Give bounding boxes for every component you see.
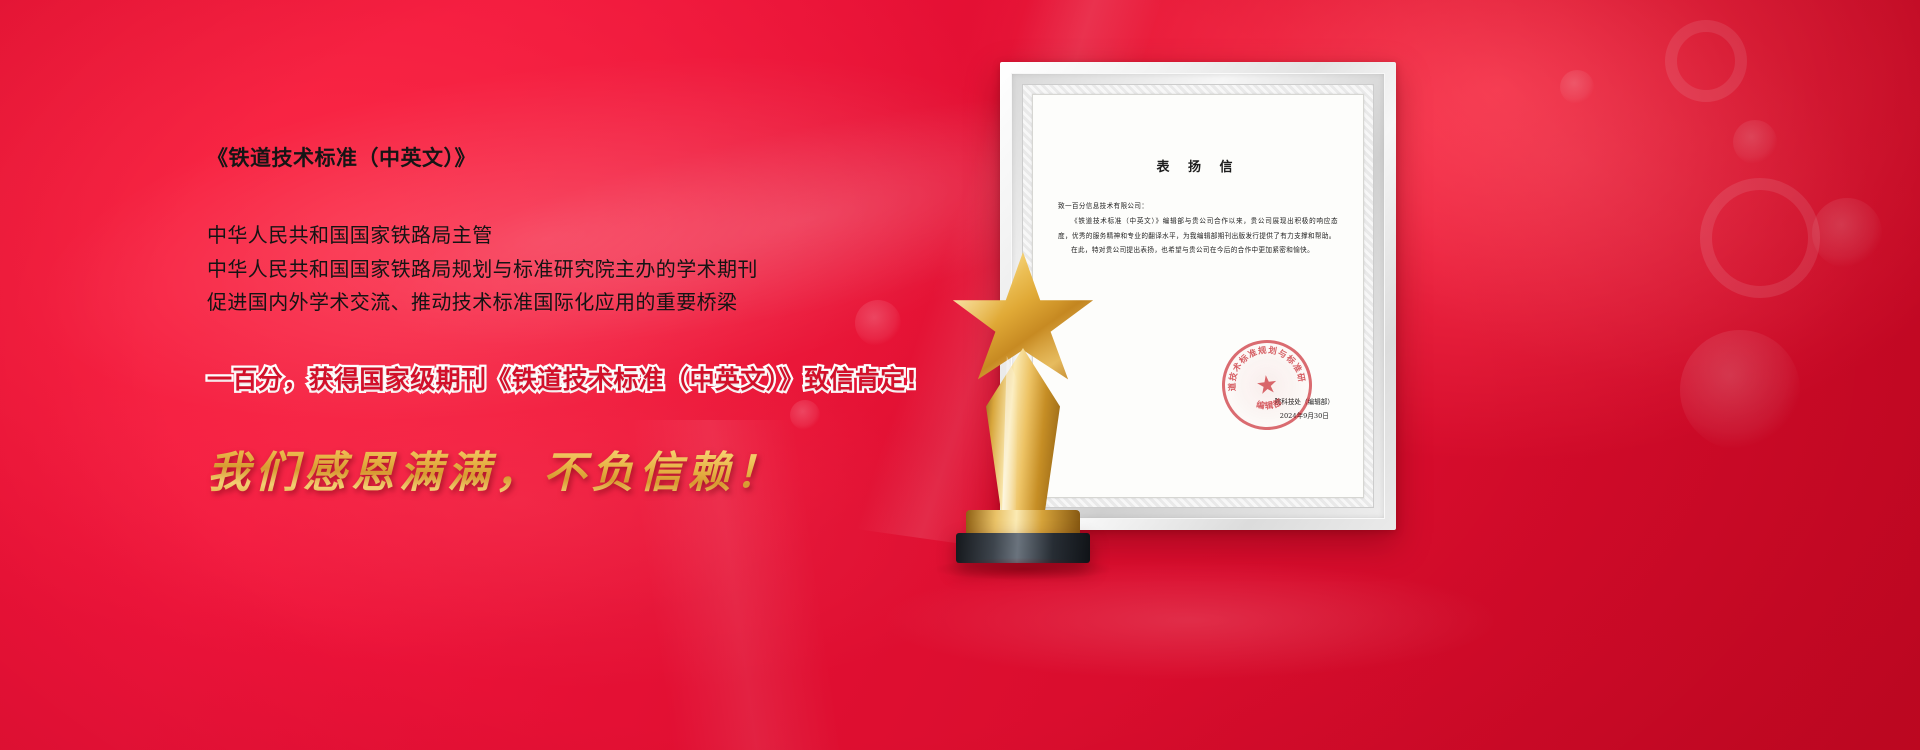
bokeh-circle — [1560, 70, 1594, 104]
bokeh-circle — [1680, 330, 1800, 450]
bokeh-circle — [1812, 198, 1882, 268]
description-line: 中华人民共和国国家铁路局规划与标准研究院主办的学术期刊 — [207, 253, 967, 287]
description-line: 中华人民共和国国家铁路局主管 — [207, 219, 967, 253]
letter-title: 表 扬 信 — [1058, 156, 1338, 175]
headline: 一百分，获得国家级期刊《铁道技术标准（中英文）》致信肯定! — [207, 360, 967, 396]
bokeh-circle — [1700, 178, 1820, 298]
journal-title: 《铁道技术标准（中英文）》 — [207, 142, 967, 172]
svg-text:编辑部: 编辑部 — [1254, 396, 1285, 413]
seal-bottom-text: 编辑部 — [1220, 338, 1314, 432]
trophy-column — [986, 348, 1060, 520]
letter-body: 致一百分信息技术有限公司： 《铁道技术标准（中英文）》编辑部与贵公司合作以来，贵… — [1058, 199, 1338, 258]
official-seal-icon: 铁道技术标准规划与标准研究 编辑部 — [1217, 335, 1317, 435]
slogan-calligraphy: 我们感恩满满，不负信赖！ — [207, 438, 967, 500]
promo-banner: 《铁道技术标准（中英文）》 中华人民共和国国家铁路局主管 中华人民共和国国家铁路… — [0, 0, 1920, 750]
copy-block: 《铁道技术标准（中英文）》 中华人民共和国国家铁路局主管 中华人民共和国国家铁路… — [207, 142, 967, 500]
description-line: 促进国内外学术交流、推动技术标准国际化应用的重要桥梁 — [207, 286, 967, 320]
trophy-shadow — [934, 558, 1112, 580]
letter-paragraph: 《铁道技术标准（中英文）》编辑部与贵公司合作以来，贵公司展现出积极的响应态度，优… — [1058, 214, 1338, 244]
description-list: 中华人民共和国国家铁路局主管 中华人民共和国国家铁路局规划与标准研究院主办的学术… — [207, 219, 967, 320]
letter-salutation: 致一百分信息技术有限公司： — [1058, 199, 1338, 214]
bokeh-circle — [1665, 20, 1747, 102]
gold-star-trophy-icon — [928, 252, 1118, 562]
bokeh-circle — [1733, 120, 1777, 164]
